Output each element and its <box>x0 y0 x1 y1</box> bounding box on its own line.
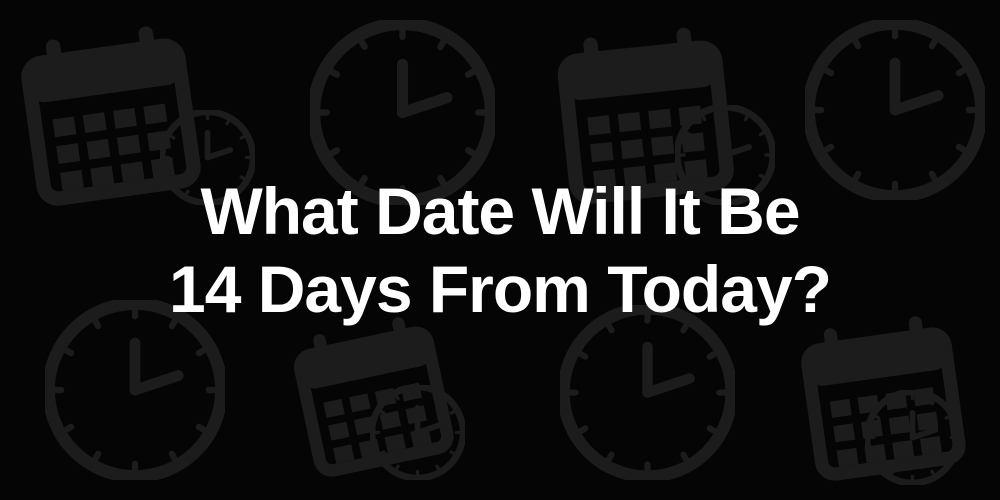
page-title: What Date Will It Be 14 Days From Today? <box>0 0 1000 500</box>
banner: What Date Will It Be 14 Days From Today? <box>0 0 1000 500</box>
title-line-2: 14 Days From Today? <box>169 250 831 328</box>
title-line-1: What Date Will It Be <box>200 172 799 250</box>
